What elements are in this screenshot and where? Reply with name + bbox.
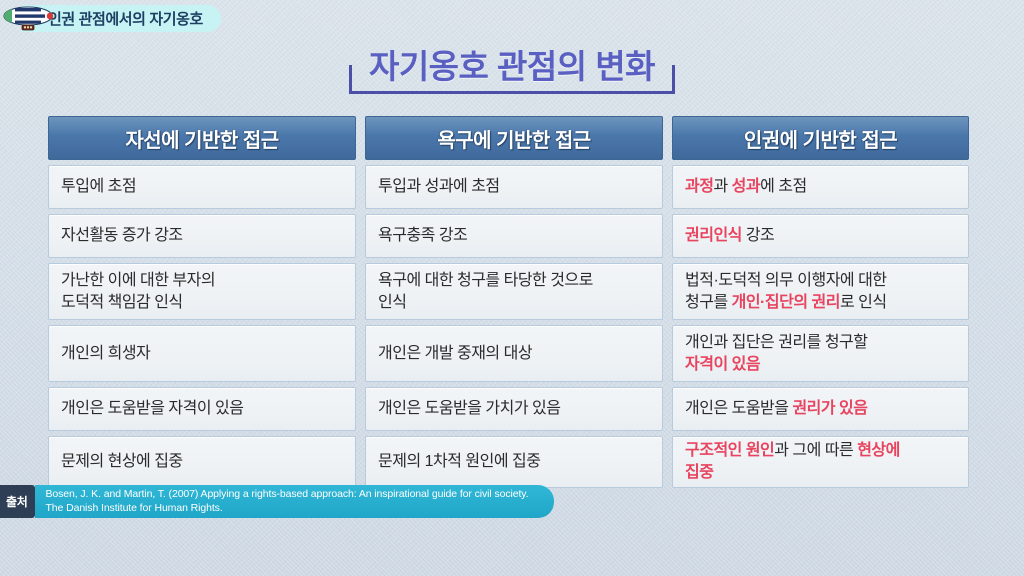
table-cell: 과정과 성과에 초점: [672, 165, 969, 209]
table-row: 자선활동 증가 강조 욕구충족 강조 권리인식 강조: [48, 214, 976, 258]
section-badge: 인권 관점에서의 자기옹호: [22, 3, 221, 33]
source-line-1: Bosen, J. K. and Martin, T. (2007) Apply…: [45, 488, 528, 502]
table-cell: 문제의 1차적 원인에 집중: [365, 436, 663, 488]
table-cell: 욕구충족 강조: [365, 214, 663, 258]
table-cell: 법적·도덕적 의무 이행자에 대한청구를 개인·집단의 권리로 인식: [672, 263, 969, 320]
cell-text: 투입에 초점: [61, 176, 136, 198]
table-row: 개인은 도움받을 자격이 있음 개인은 도움받을 가치가 있음 개인은 도움받을…: [48, 387, 976, 431]
table-row: 개인의 희생자 개인은 개발 중재의 대상 개인과 집단은 권리를 청구할자격이…: [48, 325, 976, 382]
cell-text: 과정과 성과에 초점: [685, 176, 807, 198]
section-badge-label: 인권 관점에서의 자기옹호: [48, 8, 203, 29]
cell-text: 욕구에 대한 청구를 타당한 것으로인식: [378, 270, 593, 313]
table-cell: 개인은 도움받을 권리가 있음: [672, 387, 969, 431]
cell-text: 자선활동 증가 강조: [61, 225, 183, 247]
cell-text: 법적·도덕적 의무 이행자에 대한청구를 개인·집단의 권리로 인식: [685, 270, 887, 313]
source-text-bar: Bosen, J. K. and Martin, T. (2007) Apply…: [35, 485, 554, 518]
table-cell: 문제의 현상에 집중: [48, 436, 356, 488]
page-title-text: 자기옹호 관점의 변화: [369, 48, 655, 85]
table-cell: 개인의 희생자: [48, 325, 356, 382]
table-cell: 투입에 초점: [48, 165, 356, 209]
comparison-table: 자선에 기반한 접근 욕구에 기반한 접근 인권에 기반한 접근 투입에 초점 …: [48, 116, 976, 488]
cell-text: 개인은 도움받을 자격이 있음: [61, 398, 243, 420]
cell-text: 개인의 희생자: [61, 343, 150, 365]
table-row: 투입에 초점 투입과 성과에 초점 과정과 성과에 초점: [48, 165, 976, 209]
column-header-label: 자선에 기반한 접근: [125, 124, 278, 153]
cell-text: 개인은 개발 중재의 대상: [378, 343, 532, 365]
cell-text: 개인과 집단은 권리를 청구할자격이 있음: [685, 332, 867, 375]
airship-icon: [2, 4, 54, 39]
cell-text: 개인은 도움받을 권리가 있음: [685, 398, 867, 420]
page-title: 자기옹호 관점의 변화: [0, 48, 1024, 94]
source-label: 출처: [0, 485, 35, 518]
table-cell: 개인과 집단은 권리를 청구할자격이 있음: [672, 325, 969, 382]
column-header-label: 욕구에 기반한 접근: [437, 124, 590, 153]
cell-text: 권리인식 강조: [685, 225, 774, 247]
column-header-rights: 인권에 기반한 접근: [672, 116, 969, 160]
column-header-charity: 자선에 기반한 접근: [48, 116, 356, 160]
table-cell: 개인은 도움받을 자격이 있음: [48, 387, 356, 431]
table-row: 가난한 이에 대한 부자의도덕적 책임감 인식 욕구에 대한 청구를 타당한 것…: [48, 263, 976, 320]
cell-text: 개인은 도움받을 가치가 있음: [378, 398, 560, 420]
table-cell: 구조적인 원인과 그에 따른 현상에집중: [672, 436, 969, 488]
table-row: 문제의 현상에 집중 문제의 1차적 원인에 집중 구조적인 원인과 그에 따른…: [48, 436, 976, 488]
cell-text: 가난한 이에 대한 부자의도덕적 책임감 인식: [61, 270, 215, 313]
table-cell: 투입과 성과에 초점: [365, 165, 663, 209]
table-header-row: 자선에 기반한 접근 욕구에 기반한 접근 인권에 기반한 접근: [48, 116, 976, 160]
cell-text: 문제의 1차적 원인에 집중: [378, 451, 540, 473]
cell-text: 문제의 현상에 집중: [61, 451, 183, 473]
column-header-label: 인권에 기반한 접근: [744, 124, 897, 153]
table-cell: 가난한 이에 대한 부자의도덕적 책임감 인식: [48, 263, 356, 320]
cell-text: 욕구충족 강조: [378, 225, 467, 247]
source-line-2: The Danish Institute for Human Rights.: [45, 502, 528, 516]
table-cell: 자선활동 증가 강조: [48, 214, 356, 258]
table-cell: 권리인식 강조: [672, 214, 969, 258]
column-header-needs: 욕구에 기반한 접근: [365, 116, 663, 160]
table-cell: 개인은 개발 중재의 대상: [365, 325, 663, 382]
table-cell: 욕구에 대한 청구를 타당한 것으로인식: [365, 263, 663, 320]
table-cell: 개인은 도움받을 가치가 있음: [365, 387, 663, 431]
cell-text: 구조적인 원인과 그에 따른 현상에집중: [685, 440, 900, 483]
source-citation: 출처 Bosen, J. K. and Martin, T. (2007) Ap…: [0, 485, 554, 518]
cell-text: 투입과 성과에 초점: [378, 176, 500, 198]
